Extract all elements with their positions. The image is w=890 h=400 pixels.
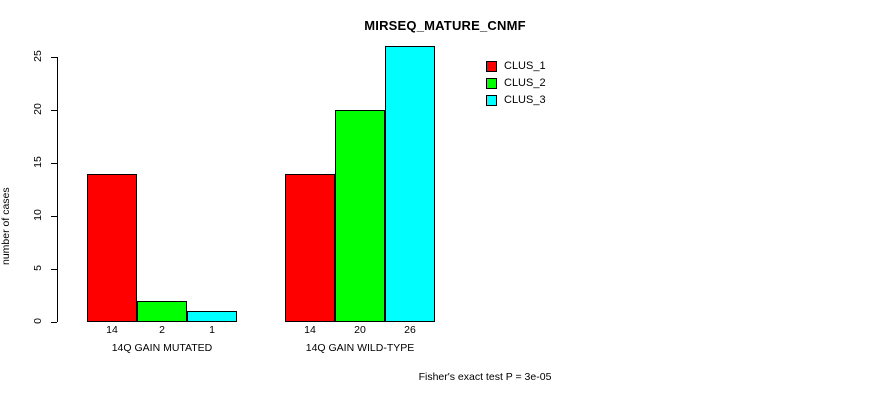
group-label: 14Q GAIN WILD-TYPE: [285, 342, 435, 354]
bar-clus_1-1: [87, 174, 137, 322]
legend-swatch-icon: [486, 61, 497, 72]
bars-layer: [0, 0, 890, 322]
plot-area: 0510152025 1421142026 14Q GAIN MUTATED14…: [0, 0, 890, 400]
legend-item: CLUS_2: [486, 75, 546, 92]
legend-item: CLUS_1: [486, 58, 546, 75]
chart-canvas: MIRSEQ_MATURE_CNMF number of cases 05101…: [0, 0, 890, 400]
legend-label: CLUS_1: [504, 61, 546, 72]
bar-value-label: 2: [137, 324, 187, 336]
bar-clus_2-1: [137, 301, 187, 322]
legend-swatch-icon: [486, 78, 497, 89]
legend-swatch-icon: [486, 95, 497, 106]
bar-value-label: 14: [87, 324, 137, 336]
bar-clus_2-2: [335, 110, 385, 322]
group-label: 14Q GAIN MUTATED: [87, 342, 237, 354]
legend-label: CLUS_3: [504, 95, 546, 106]
bar-clus_1-2: [285, 174, 335, 322]
legend: CLUS_1CLUS_2CLUS_3: [486, 58, 546, 109]
bar-value-label: 20: [335, 324, 385, 336]
bar-value-label: 1: [187, 324, 237, 336]
bar-clus_3-1: [187, 311, 237, 322]
bar-clus_3-2: [385, 46, 435, 322]
bar-value-label: 26: [385, 324, 435, 336]
legend-item: CLUS_3: [486, 92, 546, 109]
statistical-test-annotation: Fisher's exact test P = 3e-05: [0, 371, 890, 383]
legend-label: CLUS_2: [504, 78, 546, 89]
bar-value-label: 14: [285, 324, 335, 336]
